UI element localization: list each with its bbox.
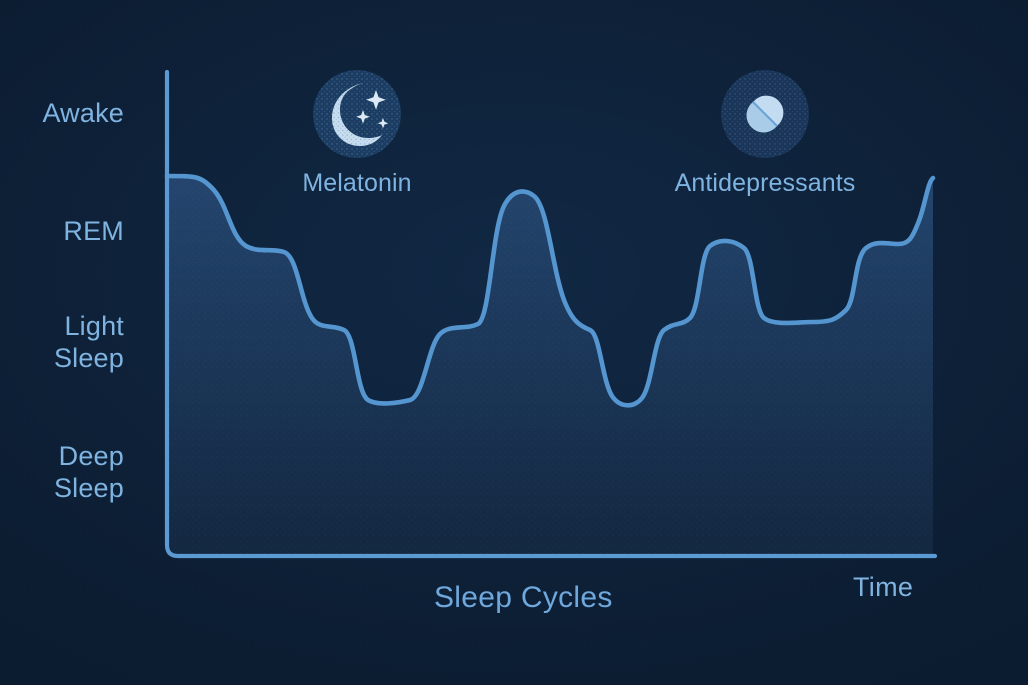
marker-label-antidepressants: Antidepressants bbox=[623, 168, 907, 198]
crescent-moon-stars-icon bbox=[311, 68, 403, 160]
x-axis-end-label: Time bbox=[853, 570, 913, 604]
marker-antidepressants[interactable]: Antidepressants bbox=[623, 68, 907, 198]
y-label-light-sleep: Light Sleep bbox=[4, 310, 124, 374]
y-label-awake: Awake bbox=[4, 97, 124, 129]
y-label-deep-sleep: Deep Sleep bbox=[4, 440, 124, 504]
pill-capsule-icon bbox=[719, 68, 811, 160]
marker-melatonin[interactable]: Melatonin bbox=[215, 68, 499, 198]
sleep-cycle-chart: Awake REM Light Sleep Deep Sleep bbox=[0, 0, 1028, 685]
marker-label-melatonin: Melatonin bbox=[215, 168, 499, 198]
x-axis-title: Sleep Cycles bbox=[434, 581, 613, 615]
y-label-rem: REM bbox=[4, 215, 124, 247]
